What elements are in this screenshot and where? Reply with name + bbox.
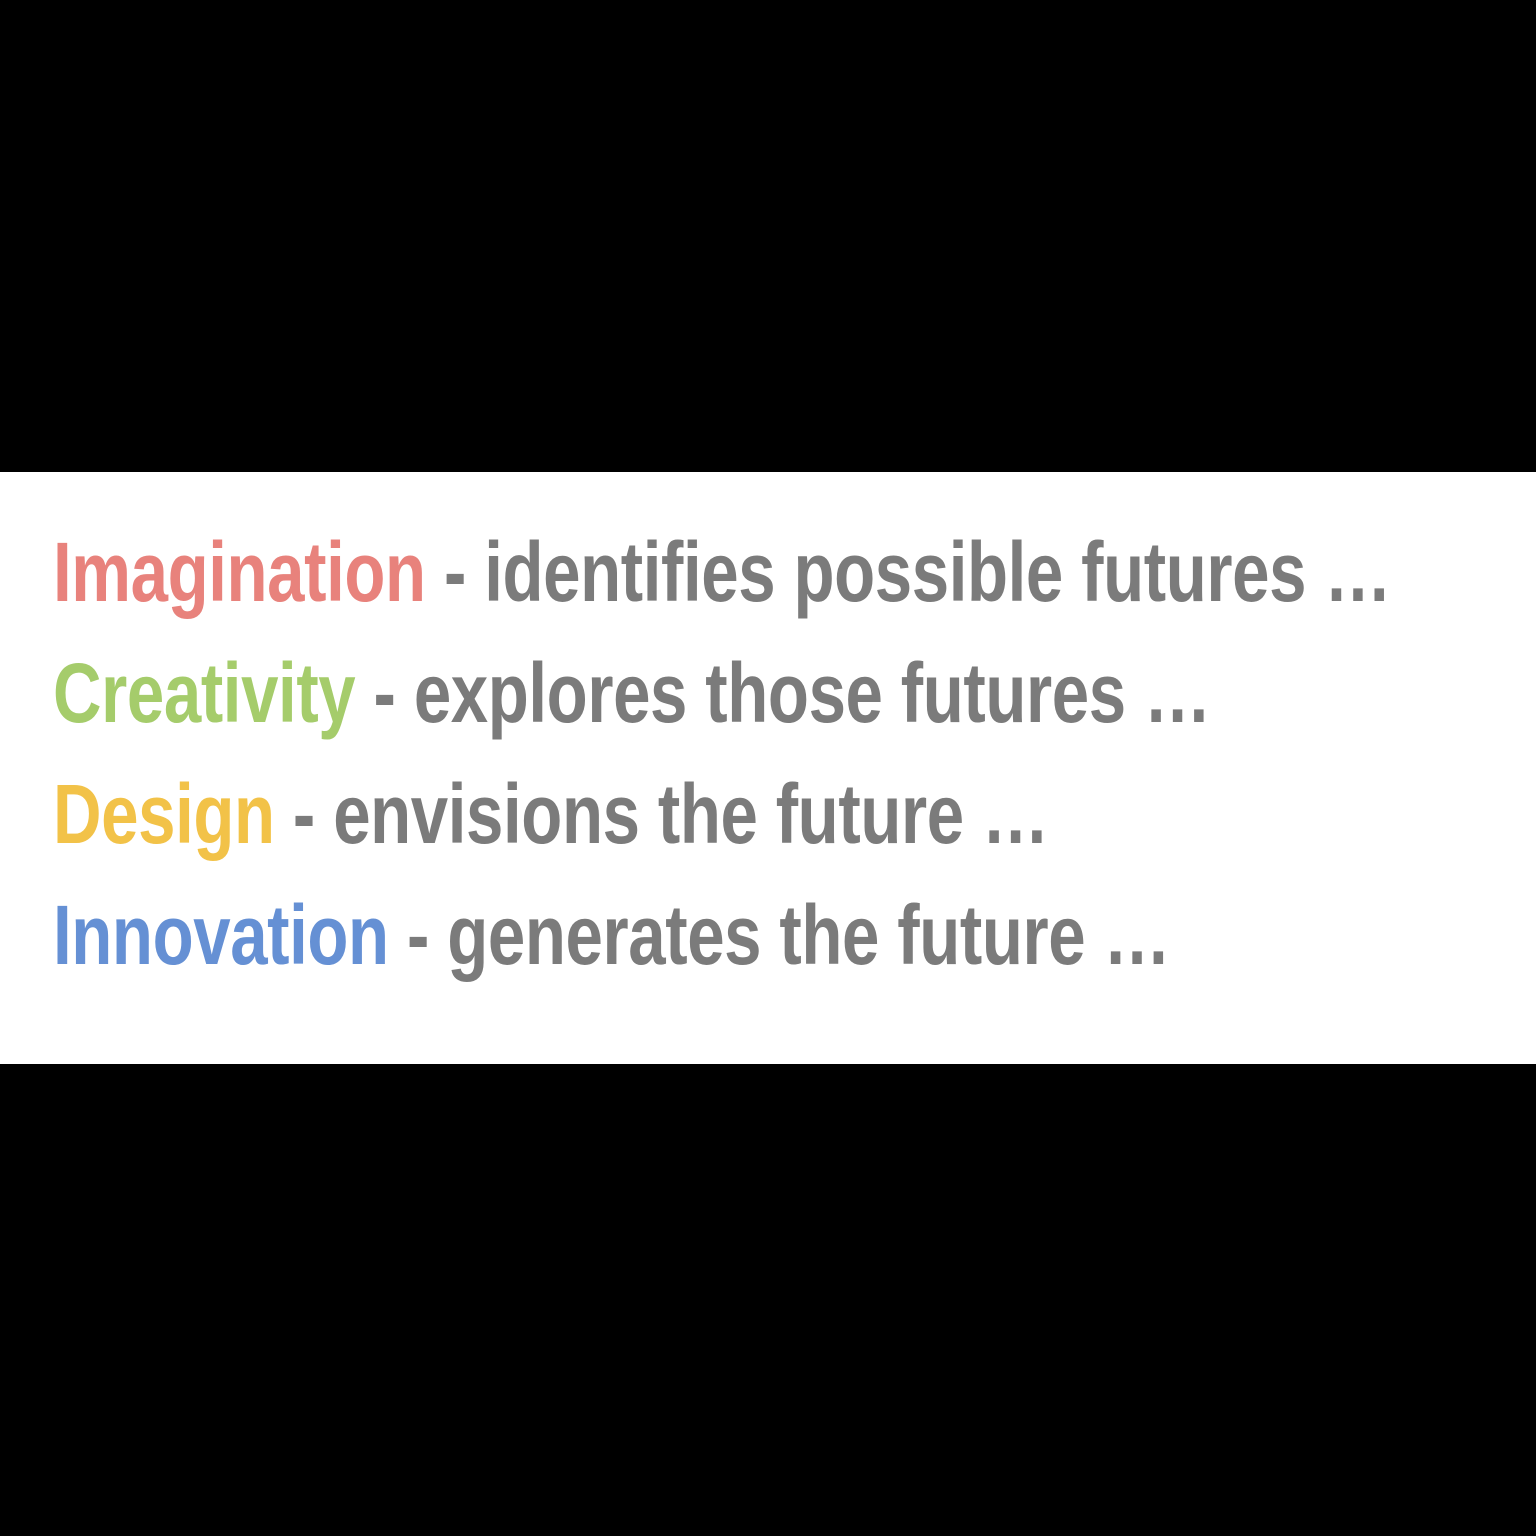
definition-line-innovation: Innovation - generates the future … — [53, 875, 1523, 996]
term-innovation: Innovation — [53, 888, 389, 982]
term-imagination: Imagination — [53, 525, 426, 619]
space-1 — [466, 525, 484, 619]
slide-content-area: Imagination - identifies possible future… — [0, 472, 1536, 1064]
space-7 — [315, 767, 333, 861]
space-5 — [1126, 646, 1144, 740]
term-creativity: Creativity — [53, 646, 355, 740]
space-2 — [1306, 525, 1324, 619]
separator-dash-design: - — [293, 767, 315, 861]
space-3 — [355, 646, 373, 740]
letterbox-bar-bottom — [0, 1064, 1536, 1536]
space-4 — [396, 646, 414, 740]
space-11 — [1085, 888, 1103, 982]
description-design: envisions the future — [333, 767, 964, 861]
space-9 — [389, 888, 407, 982]
ellipsis-innovation: … — [1104, 888, 1171, 982]
space-8 — [964, 767, 982, 861]
space-10 — [429, 888, 447, 982]
letterbox-bar-top — [0, 0, 1536, 472]
ellipsis-imagination: … — [1324, 525, 1391, 619]
description-imagination: identifies possible futures — [484, 525, 1306, 619]
slide-canvas: Imagination - identifies possible future… — [0, 0, 1536, 1536]
space-6 — [275, 767, 293, 861]
definition-line-design: Design - envisions the future … — [53, 754, 1523, 875]
separator-imagination — [426, 525, 444, 619]
definition-line-imagination: Imagination - identifies possible future… — [53, 512, 1523, 633]
term-design: Design — [53, 767, 275, 861]
ellipsis-design: … — [982, 767, 1049, 861]
definition-line-creativity: Creativity - explores those futures … — [53, 633, 1523, 754]
description-creativity: explores those futures — [414, 646, 1126, 740]
separator-dash-innovation: - — [407, 888, 429, 982]
description-innovation: generates the future — [447, 888, 1085, 982]
separator-dash-imagination: - — [444, 525, 466, 619]
ellipsis-creativity: … — [1144, 646, 1211, 740]
separator-dash-creativity: - — [374, 646, 396, 740]
definition-list: Imagination - identifies possible future… — [53, 512, 1523, 996]
